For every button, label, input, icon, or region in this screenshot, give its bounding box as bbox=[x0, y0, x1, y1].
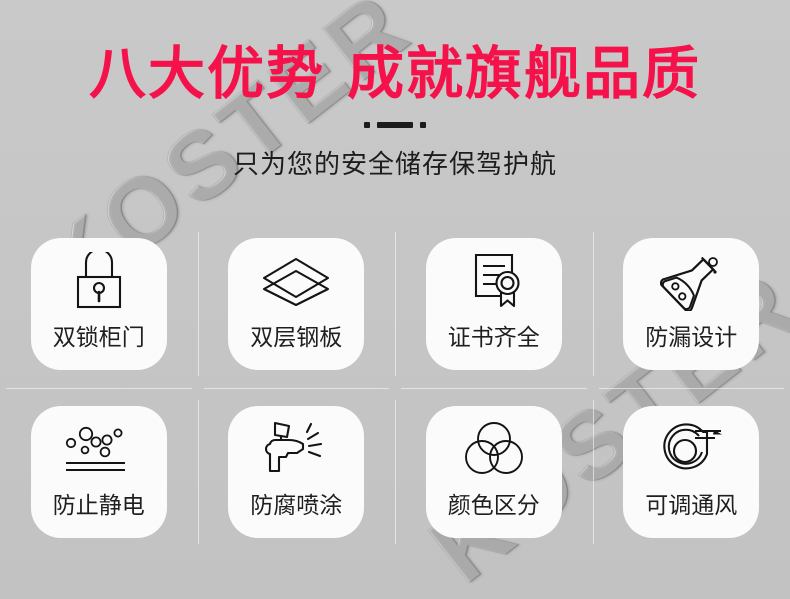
feature-label: 防止静电 bbox=[53, 486, 145, 520]
feature-label: 颜色区分 bbox=[448, 486, 540, 520]
blower-fan-icon bbox=[655, 418, 727, 480]
feature-cell-2: 双层钢板 bbox=[198, 228, 396, 380]
feature-grid: 双锁柜门 双层钢板 bbox=[0, 228, 790, 548]
feature-cell-6: 防腐喷涂 bbox=[198, 396, 396, 548]
venn-circles-icon bbox=[459, 418, 529, 480]
feature-label: 双层钢板 bbox=[250, 318, 342, 352]
feature-cell-8: 可调通风 bbox=[593, 396, 790, 548]
spray-gun-icon bbox=[259, 418, 333, 480]
page-title-part1: 八大优势 bbox=[89, 42, 325, 106]
page-title-part2: 成就旗舰品质 bbox=[347, 42, 701, 106]
antistatic-icon bbox=[61, 418, 137, 480]
divider-dot-left bbox=[364, 122, 370, 128]
divider-dash bbox=[377, 122, 413, 128]
flask-icon bbox=[658, 250, 724, 312]
feature-label: 防腐喷涂 bbox=[250, 486, 342, 520]
feature-label: 可调通风 bbox=[645, 486, 737, 520]
page-subtitle: 只为您的安全储存保驾护航 bbox=[0, 144, 790, 181]
feature-card-certificates[interactable]: 证书齐全 bbox=[426, 238, 562, 370]
page-title: 八大优势成就旗舰品质 bbox=[0, 0, 790, 106]
feature-label: 防漏设计 bbox=[645, 318, 737, 352]
feature-cell-7: 颜色区分 bbox=[395, 396, 593, 548]
feature-card-anticorrosion-coating[interactable]: 防腐喷涂 bbox=[228, 406, 364, 538]
header: 八大优势成就旗舰品质 只为您的安全储存保驾护航 bbox=[0, 0, 790, 181]
certificate-icon bbox=[464, 250, 524, 312]
feature-card-color-coding[interactable]: 颜色区分 bbox=[426, 406, 562, 538]
feature-card-double-lock[interactable]: 双锁柜门 bbox=[31, 238, 167, 370]
feature-label: 双锁柜门 bbox=[53, 318, 145, 352]
feature-card-antistatic[interactable]: 防止静电 bbox=[31, 406, 167, 538]
feature-card-adjustable-ventilation[interactable]: 可调通风 bbox=[623, 406, 759, 538]
promo-banner: KOSTER KOSTER 八大优势成就旗舰品质 只为您的安全储存保驾护航 bbox=[0, 0, 790, 599]
divider-dot-right bbox=[420, 122, 426, 128]
feature-card-leak-proof[interactable]: 防漏设计 bbox=[623, 238, 759, 370]
feature-cell-4: 防漏设计 bbox=[593, 228, 790, 380]
feature-cell-5: 防止静电 bbox=[0, 396, 198, 548]
layers-icon bbox=[260, 250, 332, 312]
padlock-icon bbox=[68, 250, 130, 312]
feature-cell-3: 证书齐全 bbox=[395, 228, 593, 380]
feature-cell-1: 双锁柜门 bbox=[0, 228, 198, 380]
feature-label: 证书齐全 bbox=[448, 318, 540, 352]
title-divider bbox=[0, 120, 790, 130]
feature-card-double-steel[interactable]: 双层钢板 bbox=[228, 238, 364, 370]
